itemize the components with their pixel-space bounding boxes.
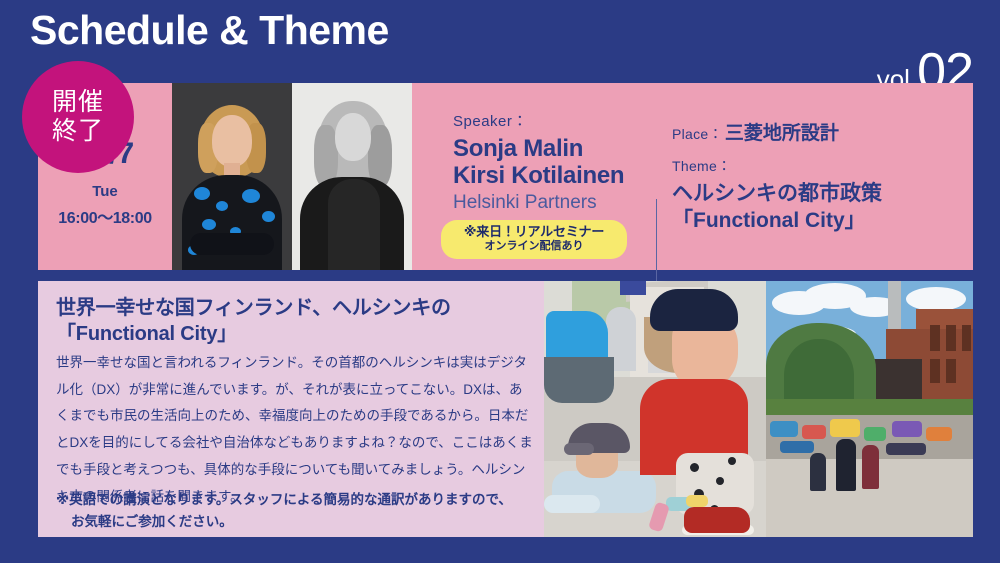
- seminar-format-primary: ※来日！リアルセミナー: [441, 224, 627, 240]
- status-badge-line-2: 終了: [52, 117, 104, 147]
- speaker-photo-kirsi-kotilainen: [292, 83, 412, 270]
- speaker-name-2: Kirsi Kotilainen: [453, 163, 624, 188]
- description-text-column: 世界一幸せな国フィンランド、ヘルシンキの 「Functional City」 世…: [38, 281, 544, 537]
- seminar-format-secondary: オンライン配信あり: [441, 240, 627, 254]
- speaker-label: Speaker：: [453, 110, 528, 131]
- description-note-line-1: ※英語での講演となります。スタッフによる簡易的な通訳がありますので、: [56, 492, 512, 507]
- speaker-photo-sonja-malin: [172, 83, 292, 270]
- poster-canvas: Schedule & Theme vol. 02 10/7 Tue 16:00〜…: [0, 0, 1000, 563]
- description-heading-2: 「Functional City」: [56, 321, 237, 347]
- place-value: 三菱地所設計: [725, 118, 839, 145]
- status-badge-line-1: 開催: [52, 88, 104, 118]
- theme-value-2: 「Functional City」: [672, 208, 866, 234]
- speaker-organization: Helsinki Partners: [453, 193, 597, 213]
- page-title: Schedule & Theme: [30, 8, 389, 53]
- event-time: 16:00〜18:00: [38, 211, 172, 227]
- gallery: 申し込みは こちらから: [544, 281, 973, 537]
- description-panel: 世界一幸せな国フィンランド、ヘルシンキの 「Functional City」 世…: [38, 281, 973, 537]
- place-label: Place：: [672, 124, 723, 144]
- photo-skate-park: [766, 281, 973, 537]
- event-day-of-week: Tue: [38, 184, 172, 199]
- place-row: Place： 三菱地所設計: [672, 118, 839, 145]
- photo-children-playing: [544, 281, 766, 537]
- description-heading-1: 世界一幸せな国フィンランド、ヘルシンキの: [56, 295, 451, 321]
- description-note: ※英語での講演となります。スタッフによる簡易的な通訳がありますので、 お気軽にご…: [56, 489, 540, 533]
- description-note-line-2: お気軽にご参加ください。: [56, 511, 540, 533]
- schedule-panel: 10/7 Tue 16:00〜18:00: [38, 83, 973, 270]
- venue-info: Place： 三菱地所設計 Theme： ヘルシンキの都市政策 「Functio…: [672, 83, 972, 270]
- seminar-format-badge: ※来日！リアルセミナー オンライン配信あり: [441, 220, 627, 259]
- theme-label: Theme：: [672, 156, 731, 176]
- speaker-name-1: Sonja Malin: [453, 136, 583, 161]
- description-body: 世界一幸せな国と言われるフィンランド。その首都のヘルシンキは実はデジタル化（DX…: [56, 350, 534, 510]
- theme-value-1: ヘルシンキの都市政策: [672, 181, 882, 207]
- status-badge: 開催 終了: [22, 61, 134, 173]
- speaker-info: Speaker： Sonja Malin Kirsi Kotilainen He…: [420, 83, 656, 270]
- speaker-photos: [172, 83, 412, 270]
